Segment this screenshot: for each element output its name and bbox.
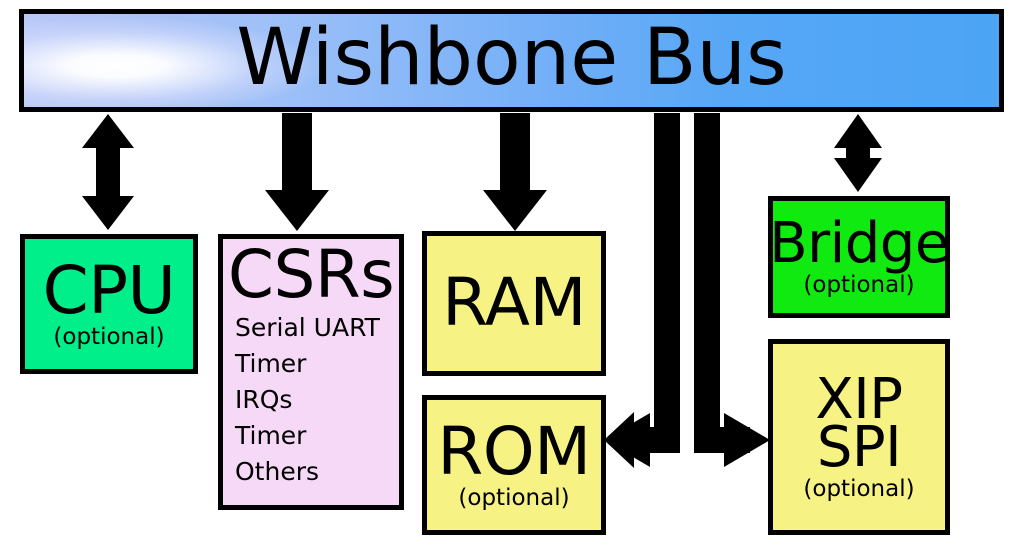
node-csrs[interactable]: CSRs Serial UART Timer IRQs Timer Others [218,234,404,510]
arrow-bus-to-cpu [82,114,134,230]
node-ram[interactable]: RAM [422,231,606,376]
node-csrs-title: CSRs [228,243,394,308]
node-ram-title: RAM [442,271,586,336]
node-bridge[interactable]: Bridge (optional) [768,196,950,318]
node-rom-optional-label: (optional) [458,486,569,510]
arrow-bus-to-csrs [265,113,329,231]
node-csrs-item-irqs: IRQs [235,382,292,418]
arrow-bus-to-rom [604,113,680,468]
node-csrs-item-others: Others [235,454,319,490]
node-xip-spi-optional-label: (optional) [803,477,914,501]
node-csrs-item-list: Serial UART Timer IRQs Timer Others [235,310,380,490]
arrow-bus-to-xip [694,113,770,467]
node-cpu[interactable]: CPU (optional) [20,234,198,374]
arrow-bus-to-ram [483,113,547,231]
node-csrs-item-timer-1: Timer [235,346,306,382]
block-diagram: Wishbone Bus CPU (optional) CSRs Serial … [0,0,1024,539]
node-rom[interactable]: ROM (optional) [422,395,606,535]
node-xip-spi[interactable]: XIP SPI (optional) [768,339,950,535]
wishbone-bus-bar: Wishbone Bus [19,9,1004,112]
node-csrs-item-serial-uart: Serial UART [235,310,380,346]
node-rom-title: ROM [437,420,590,485]
node-csrs-item-timer-2: Timer [235,418,306,454]
node-cpu-optional-label: (optional) [53,325,164,349]
node-cpu-title: CPU [43,259,176,324]
arrow-bus-to-bridge [834,114,882,192]
bus-title: Wishbone Bus [236,19,786,97]
node-bridge-title: Bridge [769,217,949,272]
node-bridge-optional-label: (optional) [803,273,914,297]
node-xip-spi-title-line2: SPI [817,421,901,476]
